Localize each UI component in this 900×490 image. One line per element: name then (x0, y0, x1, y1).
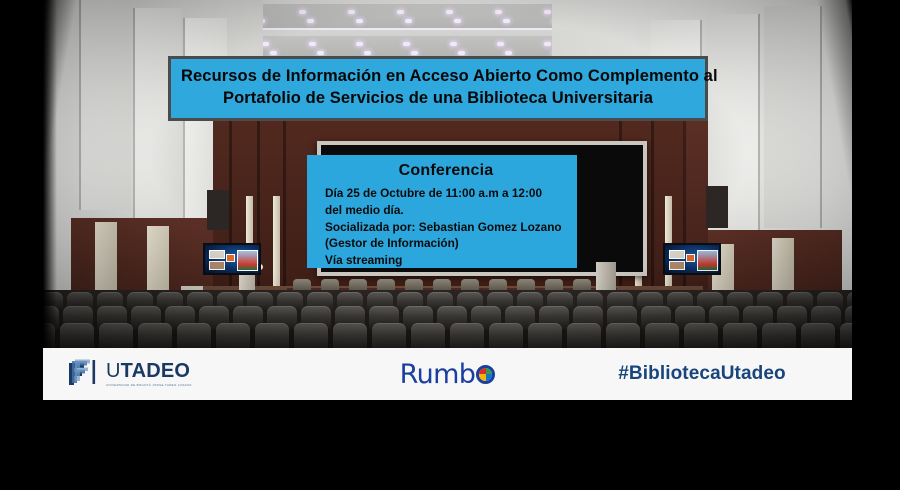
ceiling-light (450, 42, 457, 46)
wall-panel (79, 0, 131, 210)
ceiling-light (503, 19, 510, 23)
ceiling-light (544, 10, 551, 14)
ceiling-light (458, 51, 465, 55)
auditorium-seat (489, 323, 523, 348)
auditorium-seat (294, 323, 328, 348)
auditorium-seat (684, 323, 718, 348)
ceiling-light (495, 10, 502, 14)
conference-detail-line: (Gestor de Información) (325, 235, 567, 252)
footer-bar: UTADEO UNIVERSIDAD DE BOGOTÁ JORGE TADEO… (43, 348, 852, 400)
ceiling-light (405, 19, 412, 23)
hashtag-label: #BibliotecaUtadeo (618, 363, 785, 385)
wall-panel (764, 6, 822, 228)
auditorium-seat (255, 323, 289, 348)
ceiling-light (403, 42, 410, 46)
wood-groove (283, 112, 286, 312)
rumbo-pinwheel-icon (476, 365, 495, 384)
ceiling-light (411, 51, 418, 55)
audience-seating (43, 290, 852, 348)
auditorium-seat (177, 323, 211, 348)
ceiling-light (317, 51, 324, 55)
title-banner: Recursos de Información en Acceso Abiert… (168, 56, 708, 121)
title-line-1: Recursos de Información en Acceso Abiert… (181, 65, 695, 87)
utadeo-logo[interactable]: UTADEO UNIVERSIDAD DE BOGOTÁ JORGE TADEO… (67, 359, 192, 389)
poster-canvas: Recursos de Información en Acceso Abiert… (0, 0, 900, 490)
auditorium-seat (567, 323, 601, 348)
auditorium-seat (411, 323, 445, 348)
utadeo-word-tadeo: TADEO (121, 360, 191, 382)
conference-detail-line: Socializada por: Sebastian Gomez Lozano (325, 219, 567, 236)
utadeo-word-u: U (106, 360, 121, 382)
auditorium-seat (372, 323, 406, 348)
auditorium-seat (840, 323, 852, 348)
photo-left-shadow (43, 0, 57, 348)
ceiling-light (270, 51, 277, 55)
acoustic-panel (207, 190, 229, 230)
ceiling-light (364, 51, 371, 55)
utadeo-wordmark: UTADEO UNIVERSIDAD DE BOGOTÁ JORGE TADEO… (106, 361, 192, 387)
wood-pilaster (273, 196, 280, 296)
wall-display-right (663, 243, 721, 275)
ceiling-light (307, 19, 314, 23)
auditorium-seat (762, 323, 796, 348)
ceiling-light (356, 42, 363, 46)
ceiling-light (454, 19, 461, 23)
auditorium-seat (528, 323, 562, 348)
ceiling-light (446, 10, 453, 14)
title-line-2: Portafolio de Servicios de una Bibliotec… (181, 87, 695, 109)
conference-info-box: Conferencia Día 25 de Octubre de 11:00 a… (307, 155, 577, 268)
auditorium-seat (99, 323, 133, 348)
ceiling-light (397, 10, 404, 14)
ceiling-light (309, 42, 316, 46)
conference-detail-line: Vía streaming (325, 252, 567, 269)
wood-groove (683, 112, 686, 312)
ceiling-light (299, 10, 306, 14)
wood-groove (257, 112, 260, 312)
footer-center-slot: Rumb (343, 359, 552, 390)
wall-display-left (203, 243, 261, 275)
ceiling-light (348, 10, 355, 14)
wood-groove (229, 112, 232, 312)
auditorium-seat (333, 323, 367, 348)
wood-groove (651, 112, 654, 312)
auditorium-seat (645, 323, 679, 348)
ceiling-light (544, 42, 551, 46)
utadeo-tagline: UNIVERSIDAD DE BOGOTÁ JORGE TADEO LOZANO (106, 384, 192, 387)
footer-right-slot: #BibliotecaUtadeo (552, 363, 852, 385)
ceiling-light (356, 19, 363, 23)
rumbo-wordmark: Rumb (400, 359, 476, 390)
auditorium-seat (606, 323, 640, 348)
conference-heading: Conferencia (325, 162, 567, 180)
ceiling-light (262, 42, 269, 46)
auditorium-seat (723, 323, 757, 348)
auditorium-seat (450, 323, 484, 348)
footer-left-slot: UTADEO UNIVERSIDAD DE BOGOTÁ JORGE TADEO… (43, 359, 343, 389)
utadeo-book-icon (67, 359, 101, 389)
auditorium-seat (60, 323, 94, 348)
utadeo-word: UTADEO (106, 361, 192, 381)
acoustic-panel (706, 186, 728, 228)
conference-detail-line: Día 25 de Octubre de 11:00 a.m a 12:00 (325, 185, 567, 202)
auditorium-seat (138, 323, 172, 348)
rumbo-logo[interactable]: Rumb (400, 359, 496, 390)
auditorium-seat (216, 323, 250, 348)
auditorium-seat (801, 323, 835, 348)
ceiling-light (505, 51, 512, 55)
conference-detail-line: del medio día. (325, 202, 567, 219)
ceiling-light (497, 42, 504, 46)
